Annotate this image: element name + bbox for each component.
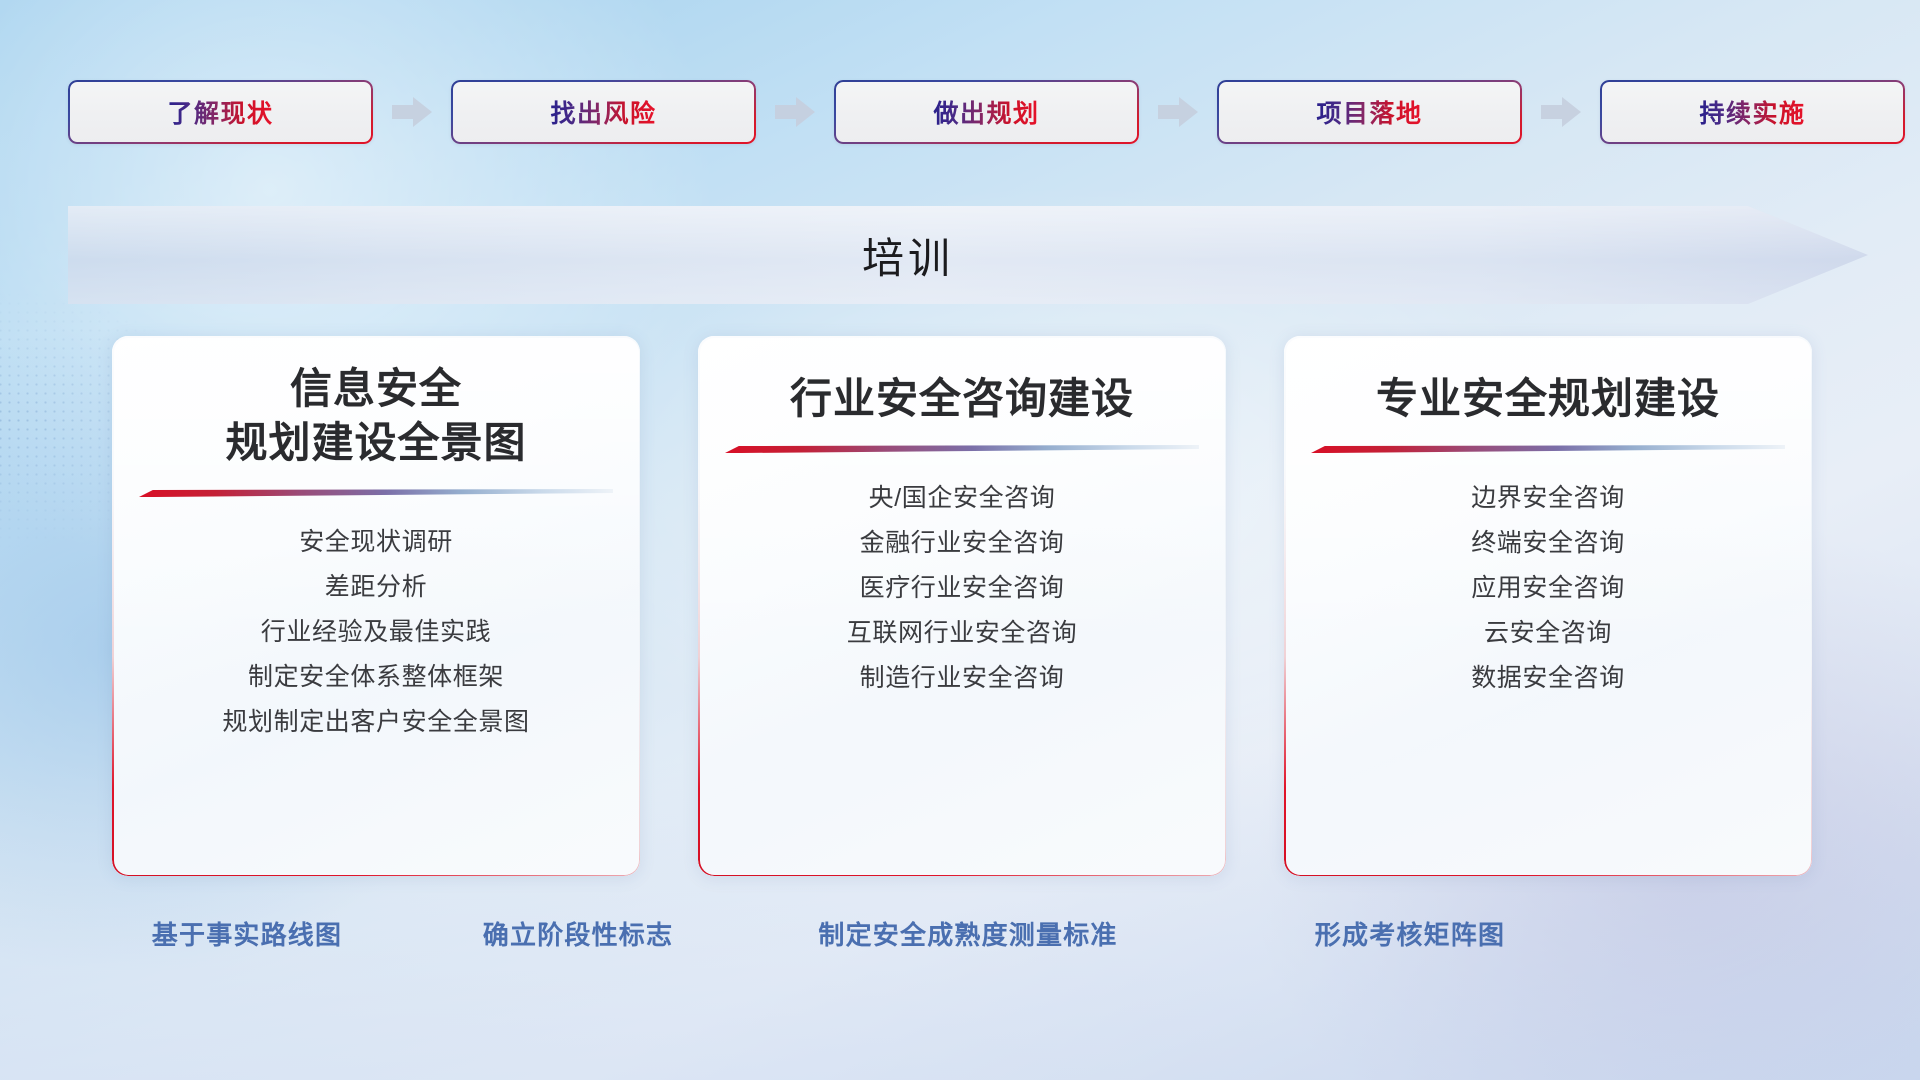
arrow-right-icon — [1157, 95, 1199, 129]
card-list-item[interactable]: 云安全咨询 — [1284, 611, 1812, 656]
step-arrow-3 — [1157, 95, 1199, 129]
footnote-label-1: 基于事实路线图 — [152, 915, 342, 952]
card-item-list: 边界安全咨询终端安全咨询应用安全咨询云安全咨询数据安全咨询 — [1284, 476, 1812, 701]
card-divider — [725, 444, 1199, 454]
card-title-line: 专业安全规划建设 — [1284, 372, 1812, 426]
step-label: 持续实施 — [1699, 94, 1805, 130]
card-list-item[interactable]: 规划制定出客户安全全景图 — [112, 700, 640, 745]
card-title: 行业安全咨询建设 — [698, 336, 1226, 426]
footnote-label-3: 制定安全成熟度测量标准 — [818, 915, 1117, 952]
card-title-line: 行业安全咨询建设 — [698, 372, 1226, 426]
arrow-right-icon — [774, 95, 816, 129]
step-label: 项目落地 — [1316, 94, 1422, 130]
card-list-item[interactable]: 互联网行业安全咨询 — [698, 611, 1226, 656]
card-list-item[interactable]: 终端安全咨询 — [1284, 521, 1812, 566]
banner-title: 培训 — [68, 200, 1868, 310]
service-card-3[interactable]: 专业安全规划建设边界安全咨询终端安全咨询应用安全咨询云安全咨询数据安全咨询 — [1284, 336, 1812, 876]
divider-line — [139, 488, 613, 498]
process-step-flow: 了解现状找出风险做出规划项目落地持续实施 — [68, 78, 1858, 146]
card-list-item[interactable]: 数据安全咨询 — [1284, 656, 1812, 701]
slide-stage: 了解现状找出风险做出规划项目落地持续实施 培训 — [0, 0, 1920, 1080]
card-title-line: 规划建设全景图 — [112, 416, 640, 470]
card-divider — [139, 488, 613, 498]
arrow-right-icon — [1540, 95, 1582, 129]
card-list-item[interactable]: 制定安全体系整体框架 — [112, 655, 640, 700]
card-title-line: 信息安全 — [112, 362, 640, 416]
card-title: 信息安全规划建设全景图 — [112, 336, 640, 470]
card-list-item[interactable]: 行业经验及最佳实践 — [112, 610, 640, 655]
card-list-item[interactable]: 制造行业安全咨询 — [698, 656, 1226, 701]
training-banner: 培训 — [68, 200, 1868, 310]
step-box-2[interactable]: 找出风险 — [451, 80, 756, 144]
card-item-list: 央/国企安全咨询金融行业安全咨询医疗行业安全咨询互联网行业安全咨询制造行业安全咨… — [698, 476, 1226, 701]
card-list-item[interactable]: 金融行业安全咨询 — [698, 521, 1226, 566]
step-box-5[interactable]: 持续实施 — [1600, 80, 1905, 144]
step-box-4[interactable]: 项目落地 — [1217, 80, 1522, 144]
card-title: 专业安全规划建设 — [1284, 336, 1812, 426]
step-arrow-4 — [1540, 95, 1582, 129]
card-list-item[interactable]: 应用安全咨询 — [1284, 566, 1812, 611]
card-row: 信息安全规划建设全景图安全现状调研差距分析行业经验及最佳实践制定安全体系整体框架… — [112, 336, 1812, 876]
card-divider — [1311, 444, 1785, 454]
card-list-item[interactable]: 边界安全咨询 — [1284, 476, 1812, 521]
step-box-1[interactable]: 了解现状 — [68, 80, 373, 144]
footnote-label-2: 确立阶段性标志 — [483, 915, 673, 952]
service-card-1[interactable]: 信息安全规划建设全景图安全现状调研差距分析行业经验及最佳实践制定安全体系整体框架… — [112, 336, 640, 876]
footnote-row: 基于事实路线图确立阶段性标志制定安全成熟度测量标准形成考核矩阵图 — [0, 915, 1920, 961]
card-item-list: 安全现状调研差距分析行业经验及最佳实践制定安全体系整体框架规划制定出客户安全全景… — [112, 520, 640, 745]
divider-line — [725, 444, 1199, 454]
divider-line — [1311, 444, 1785, 454]
card-list-item[interactable]: 央/国企安全咨询 — [698, 476, 1226, 521]
card-list-item[interactable]: 安全现状调研 — [112, 520, 640, 565]
step-label: 做出规划 — [933, 94, 1039, 130]
step-label: 了解现状 — [167, 94, 273, 130]
footnote-label-4: 形成考核矩阵图 — [1315, 915, 1505, 952]
arrow-right-icon — [391, 95, 433, 129]
card-list-item[interactable]: 差距分析 — [112, 565, 640, 610]
step-arrow-2 — [774, 95, 816, 129]
card-list-item[interactable]: 医疗行业安全咨询 — [698, 566, 1226, 611]
service-card-2[interactable]: 行业安全咨询建设央/国企安全咨询金融行业安全咨询医疗行业安全咨询互联网行业安全咨… — [698, 336, 1226, 876]
step-arrow-1 — [391, 95, 433, 129]
step-box-3[interactable]: 做出规划 — [834, 80, 1139, 144]
step-label: 找出风险 — [550, 94, 656, 130]
